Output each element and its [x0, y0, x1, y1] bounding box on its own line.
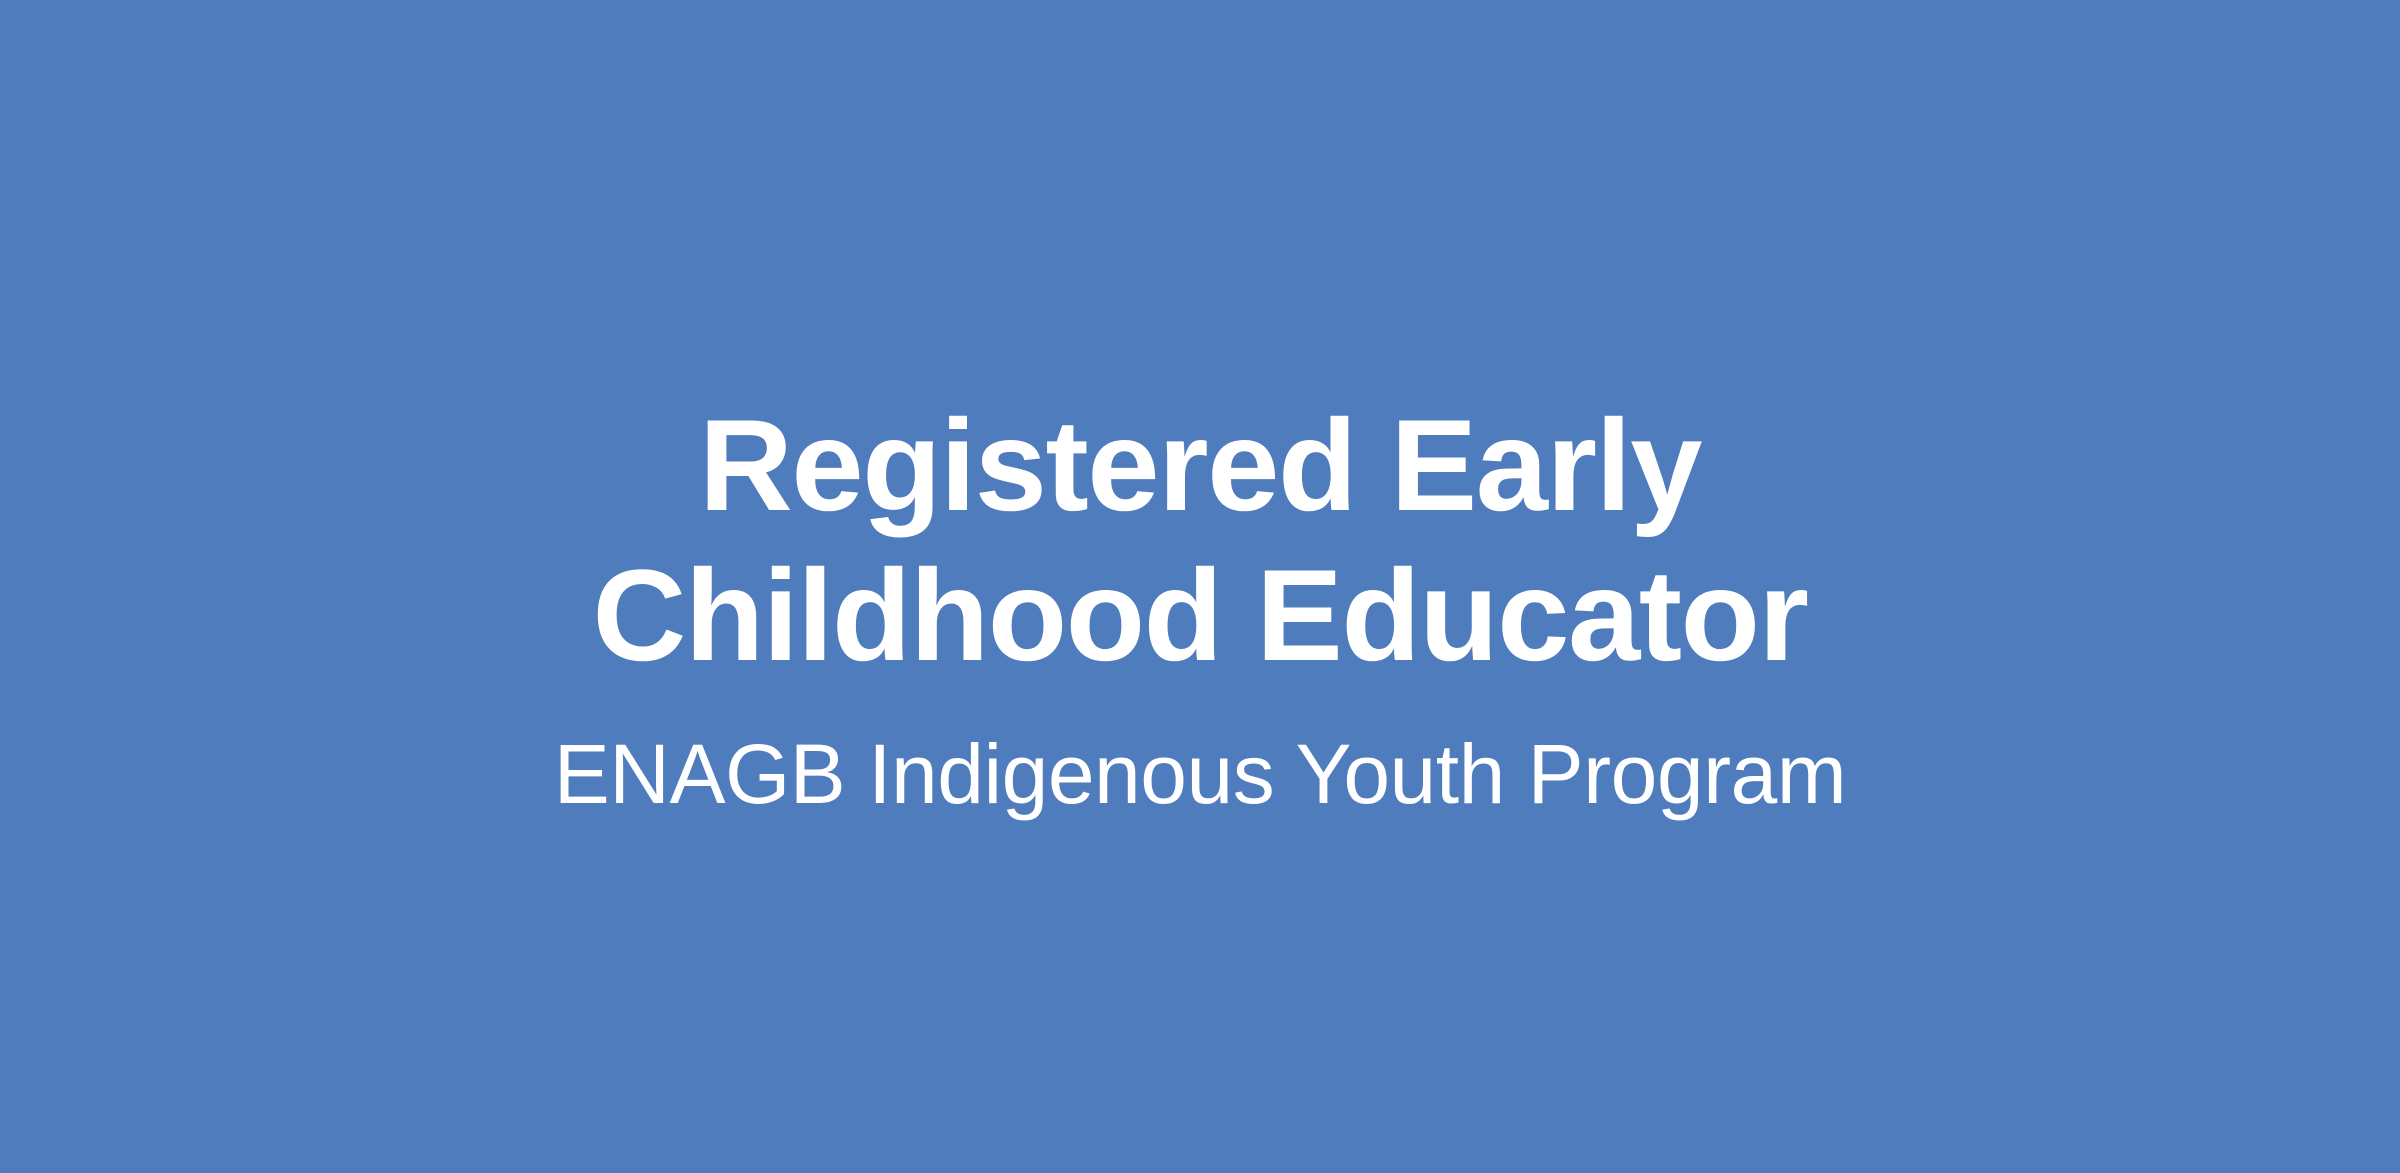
page-title: Registered Early Childhood Educator	[470, 390, 1930, 690]
title-card: Registered Early Childhood Educator ENAG…	[0, 0, 2400, 1173]
page-subtitle: ENAGB Indigenous Youth Program	[554, 722, 1847, 826]
title-card-content: Registered Early Childhood Educator ENAG…	[350, 390, 2050, 826]
